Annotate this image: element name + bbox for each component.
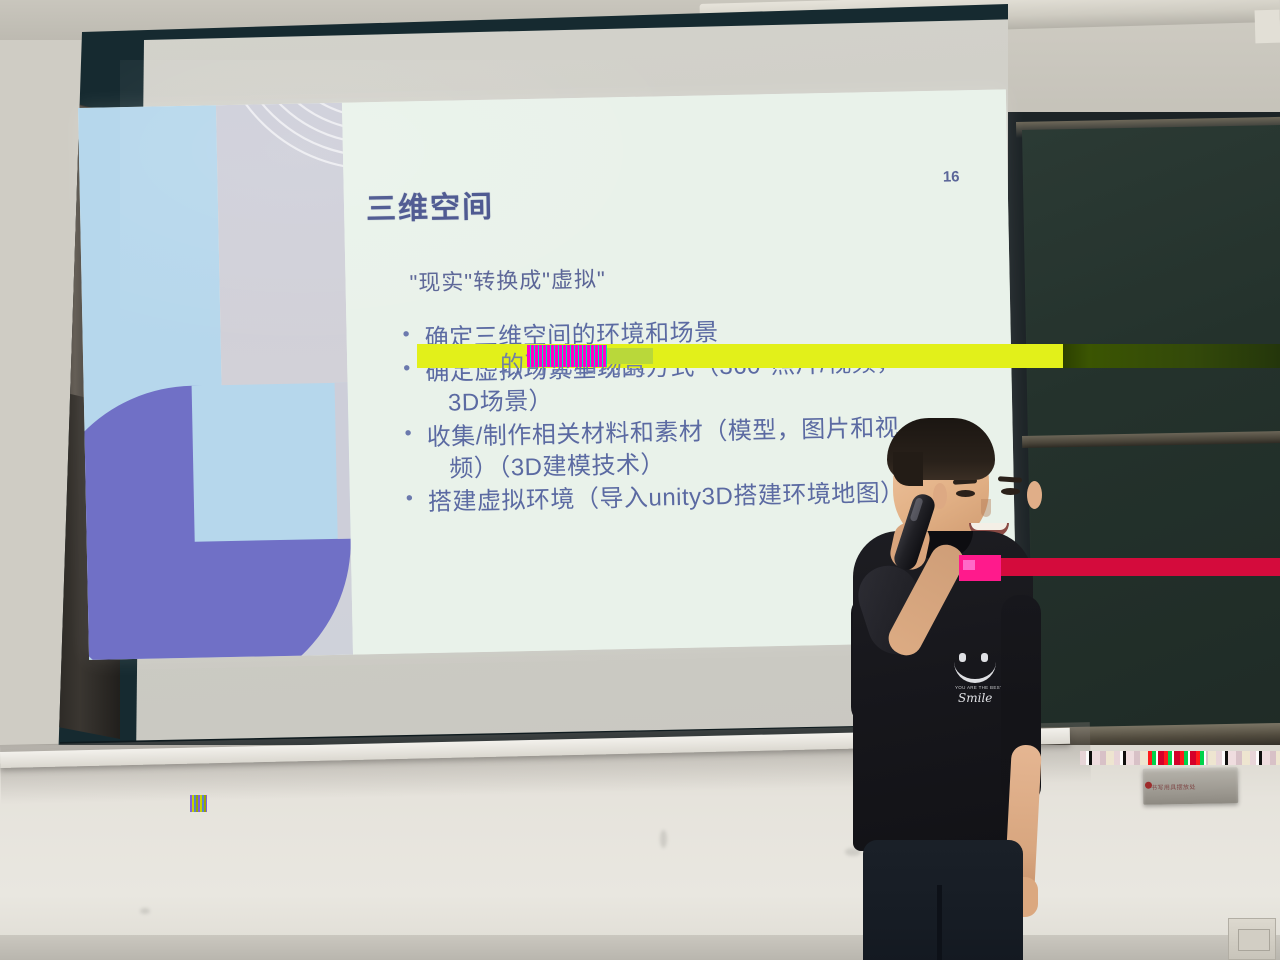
slide-page-number: 16 — [943, 168, 960, 185]
slide-title: 三维空间 — [366, 182, 495, 229]
presenter-eye-right — [1001, 488, 1020, 495]
glitch-block-pink-small — [963, 560, 975, 570]
smiley-face-icon: YOU ARE THE BEST Smile — [951, 653, 1001, 705]
slide-subtitle: "现实"转换成"虚拟" — [409, 261, 606, 297]
glitch-noise-block — [527, 345, 607, 367]
chalk-tray: 书写用具摆放处 — [1143, 767, 1239, 805]
projector-screen-roller-end — [1255, 10, 1280, 44]
glitch-band-yellow-dark — [1063, 344, 1280, 368]
bullet-line: 收集/制作相关材料和素材（模型，图片和视 — [426, 415, 899, 451]
photo-scene: 三维空间 16 "现实"转换成"虚拟" 确定三维空间的环境和场景 确定虚拟场景呈… — [0, 0, 1280, 960]
presenter-legs — [863, 840, 1023, 960]
presenter-ear-right — [1027, 481, 1042, 509]
power-outlet — [1228, 918, 1276, 960]
presenter-teeth — [971, 523, 1007, 530]
bullet-line: 搭建虚拟环境（导入unity3D搭建环境地图） — [428, 480, 905, 517]
slide-decor-circle-notch — [192, 383, 351, 542]
presenter-eye-left — [956, 490, 975, 497]
shirt-word: Smile — [958, 691, 992, 705]
smiley-mouth — [954, 657, 996, 683]
glitch-noise-block — [607, 348, 653, 364]
presenter-leg-gap — [937, 885, 942, 960]
presenter-eyebrow-right — [998, 476, 1022, 483]
glitch-band-red — [959, 558, 1280, 576]
presenter-nose — [981, 499, 991, 517]
glitch-scanline-bottom-rgb — [1148, 751, 1206, 765]
slide-decor-concentric-arcs — [216, 103, 346, 305]
glitch-noise-block — [190, 795, 207, 812]
presenter: YOU ARE THE BEST Smile — [845, 415, 1095, 960]
shirt-tagline: YOU ARE THE BEST — [955, 685, 1003, 690]
wall-smudge — [660, 830, 667, 848]
presenter-hair — [887, 418, 995, 480]
presenter-ear-left — [933, 483, 947, 509]
wall-smudge — [140, 908, 150, 914]
chalk-tray-label: 书写用具摆放处 — [1151, 782, 1196, 792]
